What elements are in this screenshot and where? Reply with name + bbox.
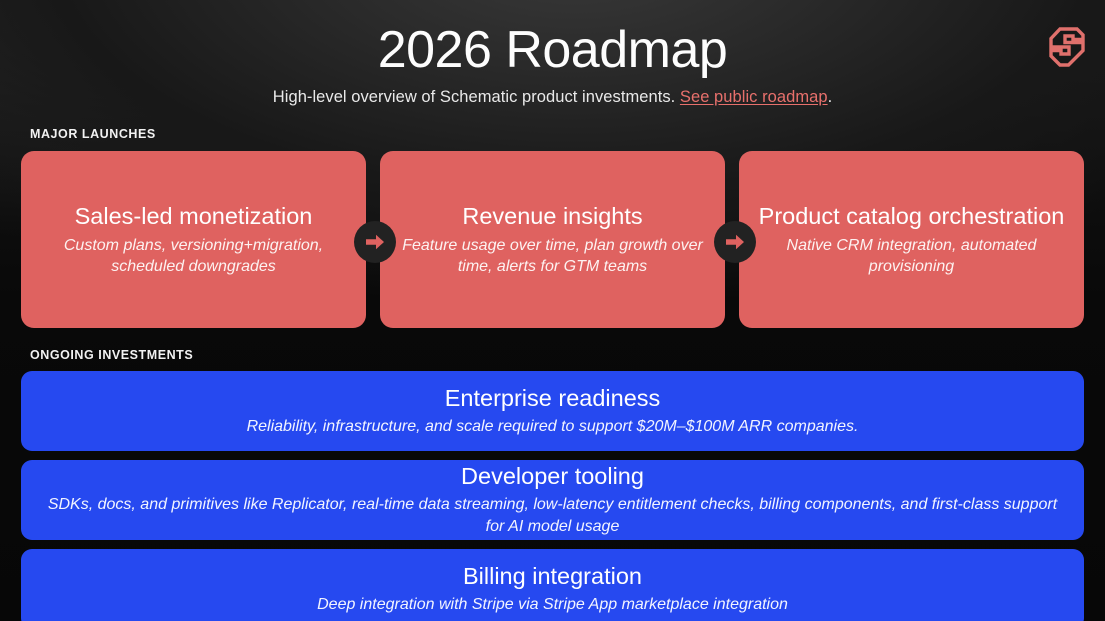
ongoing-investments-list: Enterprise readiness Reliability, infras… [21, 371, 1084, 621]
subtitle-period: . [828, 88, 833, 106]
roadmap-page: 2026 Roadmap High-level overview of Sche… [0, 0, 1105, 621]
arrow-right-icon [714, 221, 756, 263]
launch-card-title: Sales-led monetization [75, 202, 313, 231]
ongoing-band[interactable]: Enterprise readiness Reliability, infras… [21, 371, 1084, 451]
section-label-ongoing-investments: ONGOING INVESTMENTS [30, 348, 193, 362]
page-title: 2026 Roadmap [0, 22, 1105, 78]
ongoing-band-description: Deep integration with Stripe via Stripe … [317, 594, 788, 616]
launch-card-title: Revenue insights [462, 202, 642, 231]
section-label-major-launches: MAJOR LAUNCHES [30, 127, 156, 141]
ongoing-band-title: Developer tooling [461, 462, 644, 491]
schematic-logo-icon [1047, 26, 1087, 68]
launch-card[interactable]: Product catalog orchestration Native CRM… [739, 151, 1084, 328]
ongoing-band[interactable]: Billing integration Deep integration wit… [21, 549, 1084, 621]
launch-card-description: Feature usage over time, plan growth ove… [396, 235, 709, 278]
ongoing-band-description: Reliability, infrastructure, and scale r… [247, 416, 859, 438]
launch-card[interactable]: Revenue insights Feature usage over time… [380, 151, 725, 328]
page-header: 2026 Roadmap High-level overview of Sche… [0, 0, 1105, 107]
launch-card-title: Product catalog orchestration [759, 202, 1065, 231]
ongoing-band-title: Billing integration [463, 562, 642, 591]
launch-card-description: Custom plans, versioning+migration, sche… [37, 235, 350, 278]
ongoing-band[interactable]: Developer tooling SDKs, docs, and primit… [21, 460, 1084, 540]
arrow-right-icon [354, 221, 396, 263]
public-roadmap-link[interactable]: See public roadmap [680, 88, 828, 106]
major-launches-row: Sales-led monetization Custom plans, ver… [21, 151, 1084, 328]
ongoing-band-description: SDKs, docs, and primitives like Replicat… [43, 494, 1062, 537]
launch-card[interactable]: Sales-led monetization Custom plans, ver… [21, 151, 366, 328]
ongoing-band-title: Enterprise readiness [445, 384, 661, 413]
launch-card-description: Native CRM integration, automated provis… [755, 235, 1068, 278]
page-subtitle: High-level overview of Schematic product… [0, 88, 1105, 107]
subtitle-text: High-level overview of Schematic product… [273, 88, 680, 106]
